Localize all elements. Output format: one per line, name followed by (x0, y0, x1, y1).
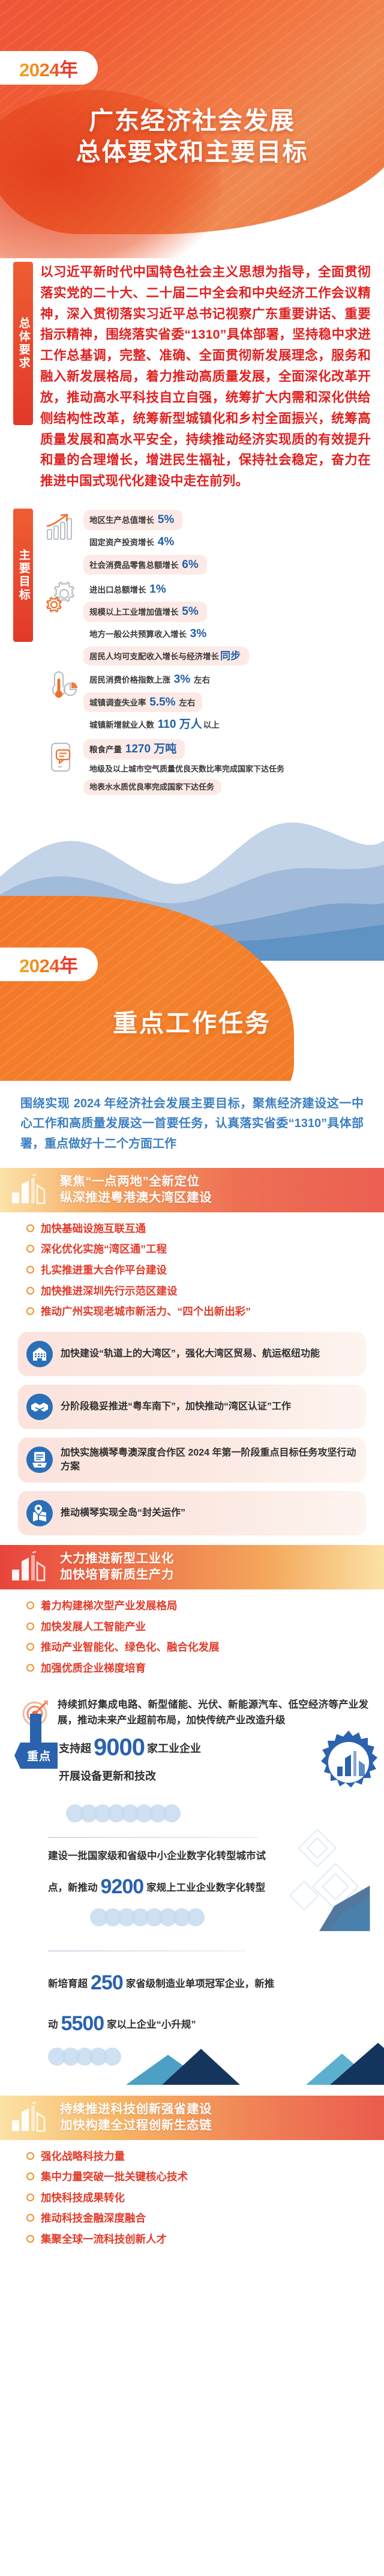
highlight-card: 推动横琴实现全岛“封关运作” (18, 1491, 366, 1535)
mountain-decoration (126, 2038, 384, 2085)
decorative-dots (90, 1908, 366, 1926)
band-line2: 加快培育新质生产力 (60, 1567, 384, 1583)
stat-number-2: 5500 (58, 2012, 107, 2035)
goal-item: 地级及以上城市空气质量优良天数比率完成国家下达任务 (83, 761, 292, 777)
document-box-icon (26, 1446, 53, 1474)
message-phone-icon (43, 738, 80, 776)
stat-number: 250 (88, 1971, 126, 1994)
ring-bullet-icon (26, 1601, 34, 1609)
list-item: 加快科技成果转化 (26, 2191, 384, 2206)
list-item: 深化优化实施“湾区通”工程 (26, 1242, 384, 1257)
stat-number: 9200 (98, 1875, 147, 1898)
stat-block-digital-transform: 建设一批国家级和省级中小企业数字化转型城市试点，新推动9200家规上工业企业数字… (0, 1825, 384, 1931)
list-item: 着力构建梯次型产业发展格局 (26, 1599, 384, 1613)
goal-item: 居民消费价格指数上涨 3% 左右 (83, 670, 217, 690)
ring-bullet-icon (26, 2194, 34, 2201)
list-item: 推动广州实现老城市新活力、“四个出新出彩” (26, 1305, 384, 1319)
stat-suffix: 家以上企业“小升规” (107, 2019, 196, 2030)
hero-banner-key-tasks: 2024年 重点工作任务 (0, 805, 384, 1081)
key-tasks-intro-paragraph: 围绕实现 2024 年经济社会发展主要目标，聚焦经济建设这一中心工作和高质量发展… (0, 1081, 384, 1164)
focus-stat-line1: 支持超9000家工业企业 (59, 1735, 313, 1759)
decorative-dots (66, 1804, 384, 1822)
highlight-card: 加快实施横琴粤澳深度合作区 2024 年第一阶段重点目标任务攻坚行动方案 (18, 1438, 366, 1483)
section-band-innovation: 持续推进科技创新强省建设 加快构建全过程创新生态链 (0, 2096, 384, 2140)
year-pill-key-tasks: 2024年 (0, 948, 98, 981)
badge-stem (30, 1714, 41, 1744)
list-item: 加强优质企业梯度培育 (26, 1661, 384, 1676)
divider (48, 1837, 258, 1838)
year-pill-overall: 2024年 (0, 51, 98, 85)
year-label: 2024年 (19, 55, 77, 82)
card-text: 加快实施横琴粤澳深度合作区 2024 年第一阶段重点目标任务攻坚行动方案 (61, 1446, 356, 1474)
section-band-title-gba: 聚焦“一点两地”全新定位 纵深推进粤港澳大湾区建设 (60, 1174, 384, 1206)
card-text: 分阶段稳妥推进“粤车南下”，加快推动“湾区认证”工作 (61, 1400, 356, 1414)
focus-stat-line2: 开展设备更新和技改 (59, 1768, 313, 1783)
factory-icon (0, 2101, 60, 2135)
band-line1: 持续推进科技创新强省建设 (60, 2102, 384, 2118)
section-band-title-innovation: 持续推进科技创新强省建设 加快构建全过程创新生态链 (60, 2102, 384, 2133)
stat-suffix: 家规上工业企业数字化转型 (146, 1882, 265, 1893)
goal-group: 地区生产总值增长 5% 固定资产投资增长 4% 社会消费品零售总额增长 6% (43, 509, 371, 577)
section-band-title-industrialization: 大力推进新型工业化 加快培育新质生产力 (60, 1551, 384, 1583)
hero-banner-overall: 2024年 广东经济社会发展 总体要求和主要目标 (0, 0, 384, 258)
focus-paragraph: 持续抓好集成电路、新型储能、光伏、新能源汽车、低空经济等产业发展，推动未来产业超… (54, 1697, 368, 1729)
goal-item: 地区生产总值增长 5% (83, 510, 182, 530)
thermometer-pie-icon (43, 668, 80, 707)
stat-number: 9000 (91, 1734, 147, 1761)
gear-factory-icon (313, 1735, 384, 1801)
goal-items: 粮食产量 1270 万吨 地级及以上城市空气质量优良天数比率完成国家下达任务 地… (83, 738, 371, 797)
bullet-list-gba: 加快基础设施互联互通 深化优化实施“湾区通”工程 扎实推进重大合作平台建设 加快… (0, 1212, 384, 1332)
main-goals-list: 地区生产总值增长 5% 固定资产投资增长 4% 社会消费品零售总额增长 6% (40, 509, 371, 799)
year-label: 2024年 (19, 951, 77, 978)
highlight-card: 加快建设“轨道上的大湾区”，强化大湾区贸易、航运枢纽功能 (18, 1332, 366, 1376)
goal-items: 居民消费价格指数上涨 3% 左右 城镇调查失业率 5.5% 左右 城镇新增就业人… (83, 668, 371, 737)
section-band-gba: 聚焦“一点两地”全新定位 纵深推进粤港澳大湾区建设 (0, 1168, 384, 1212)
goal-item: 城镇调查失业率 5.5% 左右 (83, 692, 202, 713)
goal-item: 地表水水质优良率完成国家下达任务 (83, 779, 221, 795)
ring-bullet-icon (26, 1307, 34, 1315)
handshake-icon (26, 1393, 53, 1421)
key-tasks-title-text: 重点工作任务 (0, 1003, 384, 1039)
ring-bullet-icon (26, 1622, 34, 1630)
map-pin-icon (26, 1499, 53, 1527)
page-title-line2: 总体要求和主要目标 (11, 136, 373, 168)
ring-bullet-icon (26, 2172, 34, 2180)
badge-arrow: 重点 (14, 1743, 58, 1769)
bullet-list-industrialization: 着力构建梯次型产业发展格局 加快发展人工智能产业 推动产业智能化、绿色化、融合化… (0, 1589, 384, 1689)
goal-item: 固定资产投资增长 4% (83, 532, 182, 552)
focus-badge-pin: 重点 (14, 1735, 58, 1787)
gears-icon (43, 578, 80, 617)
ring-bullet-icon (26, 2235, 34, 2243)
list-item: 加快推进深圳先行示范区建设 (26, 1284, 384, 1299)
main-goals-tab: 主要目标 (13, 509, 33, 642)
stat-text: 建设一批国家级和省级中小企业数字化转型城市试点，新推动9200家规上工业企业数字… (48, 1846, 366, 1907)
bullet-list-innovation: 强化战略科技力量 集中力量突破一批关键核心技术 加快科技成果转化 推动科技金融深… (0, 2140, 384, 2260)
stat-prefix: 支持超 (59, 1743, 91, 1755)
building-icon (26, 1340, 53, 1368)
ring-bullet-icon (26, 2152, 34, 2160)
goal-item: 社会消费品零售总额增长 6% (83, 555, 207, 575)
list-item: 加快基础设施互联互通 (26, 1222, 384, 1236)
band-line1: 大力推进新型工业化 (60, 1551, 384, 1567)
list-item: 推动产业智能化、绿色化、融合化发展 (26, 1640, 384, 1655)
goal-items: 进出口总额增长 1% 规模以上工业增加值增长 5% 地方一般公共预算收入增长 3… (83, 578, 371, 668)
bar-chart-growth-icon (43, 509, 80, 547)
section-band-industrialization: 大力推进新型工业化 加快培育新质生产力 (0, 1545, 384, 1589)
band-line1: 聚焦“一点两地”全新定位 (60, 1174, 384, 1190)
ring-bullet-icon (26, 1643, 34, 1651)
list-item: 集聚全球一流科技创新人才 (26, 2233, 384, 2247)
list-item: 强化战略科技力量 (26, 2150, 384, 2164)
ring-bullet-icon (26, 1287, 34, 1295)
page-title-line1: 广东经济社会发展 (11, 105, 373, 136)
main-goals-section: 主要目标 地区生产总值增长 5% 固定资产投资增长 4% (0, 509, 384, 805)
overall-requirements-section: 总体要求 以习近平新时代中国特色社会主义思想为指导，全面贯彻落实党的二十大、二十… (0, 262, 384, 498)
list-item: 集中力量突破一批关键核心技术 (26, 2170, 384, 2184)
badge-label: 重点 (21, 1747, 51, 1764)
overall-requirements-paragraph: 以习近平新时代中国特色社会主义思想为指导，全面贯彻落实党的二十大、二十届二中全会… (40, 262, 371, 492)
card-text: 推动横琴实现全岛“封关运作” (61, 1506, 356, 1520)
stat-suffix: 家工业企业 (147, 1743, 201, 1755)
band-line2: 纵深推进粤港澳大湾区建设 (60, 1190, 384, 1206)
goal-item: 城镇新增就业人数 110 万人以上 (83, 715, 227, 735)
goal-items: 地区生产总值增长 5% 固定资产投资增长 4% 社会消费品零售总额增长 6% (83, 509, 371, 577)
goal-group: 粮食产量 1270 万吨 地级及以上城市空气质量优良天数比率完成国家下达任务 地… (43, 738, 371, 797)
card-text: 加快建设“轨道上的大湾区”，强化大湾区贸易、航运枢纽功能 (61, 1347, 356, 1361)
list-item: 推动科技金融深度融合 (26, 2212, 384, 2226)
stat-text: 新培育超250家省级制造业单项冠军企业，新推动5500家以上企业“小升规” (48, 1962, 366, 2044)
stat-prefix: 新培育超 (48, 1979, 88, 1989)
goal-item: 进出口总额增长 1% (83, 579, 175, 600)
list-item: 扎实推进重大合作平台建设 (26, 1263, 384, 1278)
factory-icon (0, 1173, 60, 1207)
goal-group: 进出口总额增长 1% 规模以上工业增加值增长 5% 地方一般公共预算收入增长 3… (43, 578, 371, 668)
page-title: 广东经济社会发展 总体要求和主要目标 (0, 105, 384, 168)
ring-bullet-icon (26, 2214, 34, 2222)
ring-bullet-icon (26, 1224, 34, 1232)
focus-stat-lines: 支持超9000家工业企业 开展设备更新和技改 (58, 1735, 313, 1783)
divider (48, 1950, 246, 1952)
goal-item: 地方一般公共预算收入增长 3% (83, 624, 215, 644)
goal-item: 粮食产量 1270 万吨 (83, 739, 185, 760)
key-tasks-title: 重点工作任务 (0, 1003, 384, 1039)
goal-item: 规模以上工业增加值增长 5% (83, 602, 207, 622)
goal-item: 居民人均可支配收入增长与经济增长同步 (83, 647, 249, 665)
focus-block: 持续抓好集成电路、新型储能、光伏、新能源汽车、低空经济等产业发展，推动未来产业超… (0, 1689, 384, 1825)
stat-block-champion-enterprises: 新培育超250家省级制造业单项冠军企业，新推动5500家以上企业“小升规” (0, 1931, 384, 2090)
band-line2: 加快构建全过程创新生态链 (60, 2118, 384, 2134)
highlight-card: 分阶段稳妥推进“粤车南下”，加快推动“湾区认证”工作 (18, 1385, 366, 1429)
ring-bullet-icon (26, 1664, 34, 1672)
footer-spacer (0, 2260, 384, 2263)
factory-icon (0, 1550, 60, 1584)
ring-bullet-icon (26, 1266, 34, 1274)
overall-requirements-tab: 总体要求 (13, 262, 33, 425)
ring-bullet-icon (26, 1245, 34, 1253)
goal-group: 居民消费价格指数上涨 3% 左右 城镇调查失业率 5.5% 左右 城镇新增就业人… (43, 668, 371, 737)
list-item: 加快发展人工智能产业 (26, 1620, 384, 1634)
